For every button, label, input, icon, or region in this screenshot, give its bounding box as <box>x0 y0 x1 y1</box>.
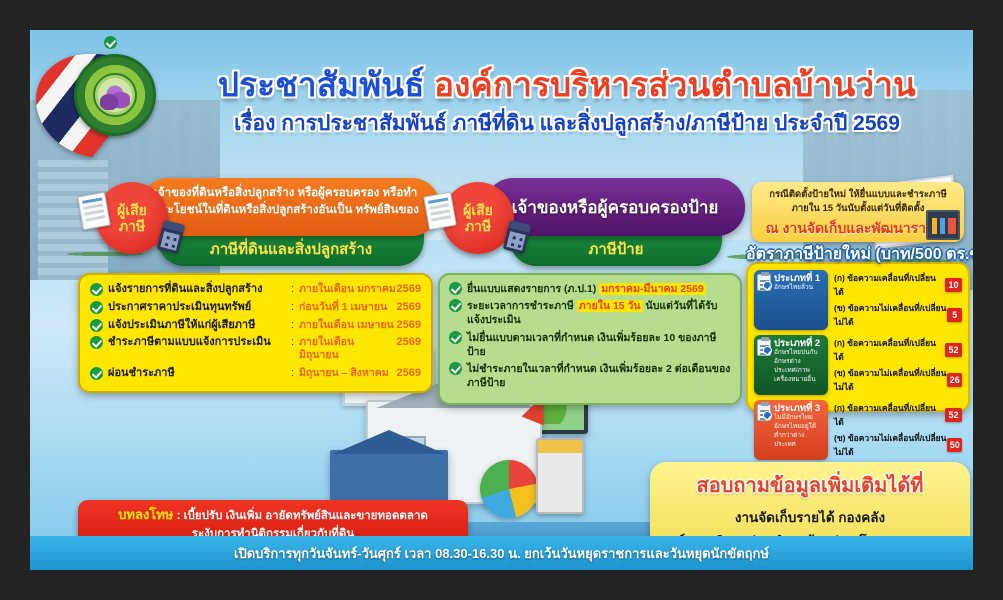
rate-table-row: ประเภทที่ 1อักษรไทยล้วน(ก) ข้อความเคลื่อ… <box>754 270 962 330</box>
row-separator: : <box>291 336 299 348</box>
land-badge-line2: ภาษี <box>119 218 145 234</box>
row-separator: : <box>291 283 299 295</box>
sign-rule-text: ไม่ยื่นแบบตามเวลาที่กำหนด เงินเพิ่มร้อยล… <box>467 331 731 359</box>
land-badge-line1: ผู้เสีย <box>117 202 147 218</box>
sign-rules-rows: ยื่นแบบแสดงรายการ (ภ.ป.1) มกราคม-มีนาคม … <box>449 282 731 390</box>
sign-rule-row: ไม่ชำระภายในเวลาที่กำหนด เงินเพิ่มร้อยละ… <box>449 362 731 390</box>
land-schedule-label: ชำระภาษีตามแบบแจ้งการประเมิน <box>108 336 291 350</box>
row-separator: : <box>291 367 299 379</box>
land-schedule-row: ประกาศราคาประเมินทุนทรัพย์:ก่อนวันที่ 1 … <box>90 301 421 315</box>
rate-item-value: 52 <box>945 408 962 422</box>
land-schedule-label: ผ่อนชำระภาษี <box>108 367 291 381</box>
contact-heading: สอบถามข้อมูลเพิ่มเติมได้ที่ <box>650 469 970 501</box>
check-icon <box>90 367 103 380</box>
check-badge-icon <box>763 411 772 420</box>
rate-item: (ข) ข้อความไม่เคลื่อนที่/เปลี่ยนไม่ได้5 <box>834 301 962 329</box>
office-hours-text: เปิดบริการทุกวันจันทร์-วันศุกร์ เวลา 08.… <box>234 543 769 564</box>
highlighted-term: ภายใน 15 วัน <box>577 300 643 312</box>
row-separator: : <box>291 301 299 313</box>
land-schedule-year: 2569 <box>397 319 421 331</box>
header-titles: ประชาสัมพันธ์ องค์การบริหารส่วนตำบลบ้านว… <box>172 68 962 140</box>
land-schedule-panel: แจ้งรายการที่ดินและสิ่งปลูกสร้าง:ภายในเด… <box>78 273 433 393</box>
document-icon <box>77 192 110 230</box>
land-schedule-year: 2569 <box>397 283 421 295</box>
land-taxpayer-badge: ผู้เสีย ภาษี <box>96 182 168 254</box>
rate-item-value: 10 <box>945 278 962 292</box>
land-taxpayer-banner: เจ้าของที่ดินหรือสิ่งปลูกสร้าง หรือผู้คร… <box>140 178 440 236</box>
rate-items: (ก) ข้อความเคลื่อนที่/เปลี่ยนได้10(ข) ข้… <box>828 270 962 330</box>
land-banner-text: เจ้าของที่ดินหรือสิ่งปลูกสร้าง หรือผู้คร… <box>140 178 440 235</box>
rate-item-value: 5 <box>947 308 962 322</box>
sign-rule-row: ระยะเวลาการชำระภาษี ภายใน 15 วัน นับแต่ว… <box>449 299 731 327</box>
land-schedule-label: ประกาศราคาประเมินทุนทรัพย์ <box>108 301 291 315</box>
check-icon <box>90 336 103 349</box>
land-schedule-year: 2569 <box>397 301 421 313</box>
page-title: ประชาสัมพันธ์ องค์การบริหารส่วนตำบลบ้านว… <box>172 68 962 103</box>
land-schedule-value: มิถุนายน – สิงหาคม <box>299 367 397 380</box>
organization-seal <box>58 48 154 144</box>
check-icon <box>449 362 462 375</box>
rate-items: (ก) ข้อความเคลื่อนที่/เปลี่ยนได้52(ข) ข้… <box>828 400 962 460</box>
new-sign-notice: กรณีติดตั้งป้ายใหม่ ให้ยื่นแบบและชำระภาษ… <box>752 182 964 242</box>
sign-taxpayer-badge: ผู้เสีย ภาษี <box>442 182 514 254</box>
land-schedule-year: 2569 <box>397 367 421 379</box>
rate-item-text: (ก) ข้อความเคลื่อนที่/เปลี่ยนได้ <box>834 401 945 429</box>
rate-table-row: ประเภทที่ 2อักษรไทยปนกับอักษรต่างประเทศ/… <box>754 335 962 395</box>
document-icon <box>423 192 456 230</box>
seal-emblem-figure <box>100 84 130 110</box>
check-icon <box>449 299 462 312</box>
page-title-part2: องค์การบริหารส่วนตำบลบ้านว่าน <box>434 66 916 103</box>
rate-type-block: ประเภทที่ 1อักษรไทยล้วน <box>754 270 828 330</box>
sign-rule-text: ระยะเวลาการชำระภาษี ภายใน 15 วัน นับแต่ว… <box>467 299 731 327</box>
sign-rate-table: ประเภทที่ 1อักษรไทยล้วน(ก) ข้อความเคลื่อ… <box>746 262 970 412</box>
punishment-text1: : เบี้ยปรับ เงินเพิ่ม อายัดทรัพย์สินและข… <box>177 510 428 522</box>
rate-item-text: (ก) ข้อความเคลื่อนที่/เปลี่ยนได้ <box>834 271 945 299</box>
rate-type-block: ประเภทที่ 2อักษรไทยปนกับอักษรต่างประเทศ/… <box>754 335 828 395</box>
land-schedule-value: ภายในเดือน มิถุนายน <box>299 336 397 362</box>
sign-rule-text: ยื่นแบบแสดงรายการ (ภ.ป.1) มกราคม-มีนาคม … <box>467 282 706 296</box>
sign-banner-text: เจ้าของหรือผู้ครอบครองป้าย <box>512 194 719 221</box>
land-schedule-row: แจ้งประเมินภาษีให้แก่ผู้เสียภาษี:ภายในเด… <box>90 319 421 333</box>
seal-badge-icon <box>74 54 156 136</box>
rate-table-row: ประเภทที่ 3ไม่มีอักษรไทย อักษรไทยอยู่ใต้… <box>754 400 962 460</box>
rate-item: (ก) ข้อความเคลื่อนที่/เปลี่ยนได้52 <box>834 336 962 364</box>
land-schedule-row: แจ้งรายการที่ดินและสิ่งปลูกสร้าง:ภายในเด… <box>90 283 421 297</box>
row-separator: : <box>291 319 299 331</box>
monitor-chart-icon <box>926 210 960 240</box>
sign-badge-line1: ผู้เสีย <box>463 202 493 218</box>
calculator-icon <box>536 438 584 514</box>
rate-item: (ข) ข้อความไม่เคลื่อนที่/เปลี่ยนไม่ได้50 <box>834 431 962 459</box>
page-title-part1: ประชาสัมพันธ์ <box>218 66 425 103</box>
rate-table-rows: ประเภทที่ 1อักษรไทยล้วน(ก) ข้อความเคลื่อ… <box>754 270 962 460</box>
highlighted-term: มกราคม-มีนาคม 2569 <box>599 283 705 295</box>
sign-rule-text: ไม่ชำระภายในเวลาที่กำหนด เงินเพิ่มร้อยละ… <box>467 362 731 390</box>
rate-type-desc: อักษรไทยล้วน <box>774 284 824 293</box>
rate-item-value: 50 <box>947 438 962 452</box>
rate-item-text: (ข) ข้อความไม่เคลื่อนที่/เปลี่ยนไม่ได้ <box>834 301 947 329</box>
land-schedule-value: ภายในเดือน เมษายน <box>299 319 397 332</box>
land-schedule-row: ชำระภาษีตามแบบแจ้งการประเมิน:ภายในเดือน … <box>90 336 421 362</box>
sign-rules-panel: ยื่นแบบแสดงรายการ (ภ.ป.1) มกราคม-มีนาคม … <box>438 273 742 405</box>
poster-canvas: ประชาสัมพันธ์ องค์การบริหารส่วนตำบลบ้านว… <box>30 30 973 570</box>
office-hours-footer: เปิดบริการทุกวันจันทร์-วันศุกร์ เวลา 08.… <box>30 536 973 570</box>
land-schedule-row: ผ่อนชำระภาษี:มิถุนายน – สิงหาคม2569 <box>90 367 421 381</box>
land-schedule-label: แจ้งรายการที่ดินและสิ่งปลูกสร้าง <box>108 283 291 297</box>
land-schedule-label: แจ้งประเมินภาษีให้แก่ผู้เสียภาษี <box>108 319 291 333</box>
sign-rule-row: ยื่นแบบแสดงรายการ (ภ.ป.1) มกราคม-มีนาคม … <box>449 282 731 296</box>
new-sign-notice-line1: กรณีติดตั้งป้ายใหม่ ให้ยื่นแบบและชำระภาษ… <box>760 188 956 202</box>
pie-chart-icon <box>480 460 538 518</box>
rate-item-value: 52 <box>945 343 962 357</box>
rate-item-text: (ก) ข้อความเคลื่อนที่/เปลี่ยนได้ <box>834 336 945 364</box>
check-badge-icon <box>763 346 772 355</box>
rate-type-desc: อักษรไทยปนกับอักษรต่างประเทศ/ภาพ เครื่อง… <box>774 349 824 384</box>
land-schedule-year: 2569 <box>397 336 421 348</box>
rate-type-name: ประเภทที่ 2 <box>774 338 824 349</box>
check-icon <box>90 301 103 314</box>
check-icon <box>90 319 103 332</box>
rate-item-value: 26 <box>947 373 962 387</box>
page-subtitle: เรื่อง การประชาสัมพันธ์ ภาษีที่ดิน และสิ… <box>172 107 962 140</box>
rate-item-text: (ข) ข้อความไม่เคลื่อนที่/เปลี่ยนไม่ได้ <box>834 366 947 394</box>
rate-type-name: ประเภทที่ 3 <box>774 403 824 414</box>
check-icon <box>90 283 103 296</box>
rate-item: (ข) ข้อความไม่เคลื่อนที่/เปลี่ยนไม่ได้26 <box>834 366 962 394</box>
rate-item: (ก) ข้อความเคลื่อนที่/เปลี่ยนได้52 <box>834 401 962 429</box>
land-schedule-rows: แจ้งรายการที่ดินและสิ่งปลูกสร้าง:ภายในเด… <box>90 283 421 380</box>
land-schedule-value: ก่อนวันที่ 1 เมษายน <box>299 301 397 314</box>
rate-type-name: ประเภทที่ 1 <box>774 273 824 284</box>
check-badge-icon <box>763 281 772 290</box>
check-icon <box>449 282 462 295</box>
rate-table-title: อัตราภาษีป้ายใหม่ (บาท/500 ตร.ซม.) <box>746 242 970 267</box>
rate-item-text: (ข) ข้อความไม่เคลื่อนที่/เปลี่ยนไม่ได้ <box>834 431 947 459</box>
contact-line1: งานจัดเก็บรายได้ กองคลัง <box>650 506 970 528</box>
sign-badge-line2: ภาษี <box>465 218 491 234</box>
land-schedule-value: ภายในเดือน มกราคม <box>299 283 397 296</box>
sign-rule-row: ไม่ยื่นแบบตามเวลาที่กำหนด เงินเพิ่มร้อยล… <box>449 331 731 359</box>
punishment-label: บทลงโทษ <box>118 507 173 522</box>
rate-items: (ก) ข้อความเคลื่อนที่/เปลี่ยนได้52(ข) ข้… <box>828 335 962 395</box>
check-icon <box>449 331 462 344</box>
rate-type-block: ประเภทที่ 3ไม่มีอักษรไทย อักษรไทยอยู่ใต้… <box>754 400 828 460</box>
rate-item: (ก) ข้อความเคลื่อนที่/เปลี่ยนได้10 <box>834 271 962 299</box>
rate-type-desc: ไม่มีอักษรไทย อักษรไทยอยู่ใต้ ต่ำกว่าต่า… <box>774 414 824 449</box>
punishment-line1: บทลงโทษ : เบี้ยปรับ เงินเพิ่ม อายัดทรัพย… <box>86 505 460 525</box>
